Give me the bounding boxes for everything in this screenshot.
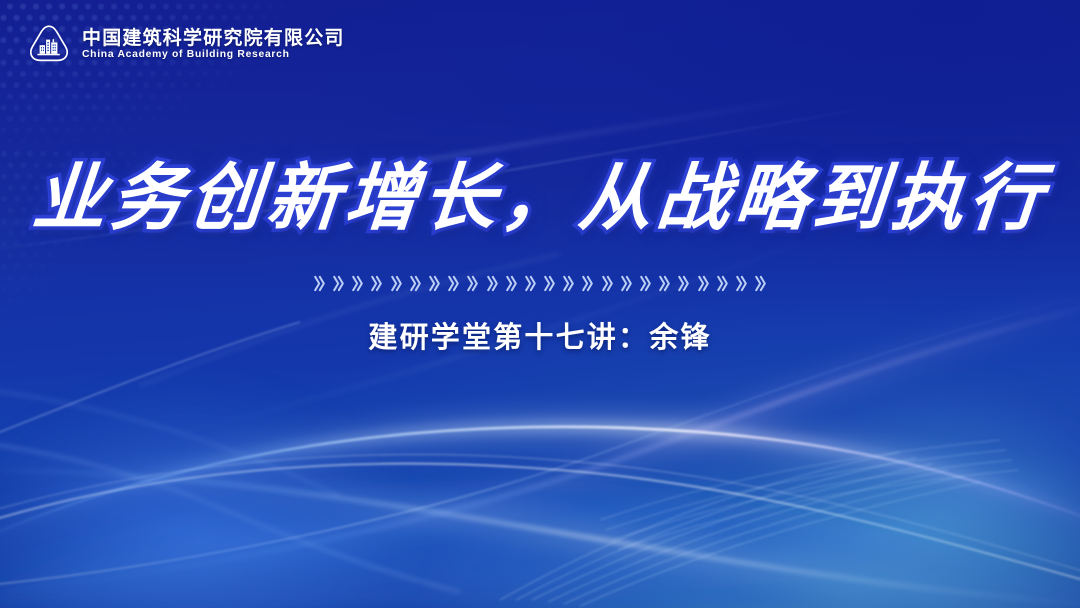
double-chevron-right-icon xyxy=(506,275,517,292)
double-chevron-right-icon xyxy=(487,275,498,292)
double-chevron-right-icon xyxy=(448,275,459,292)
brand-name-en: China Academy of Building Research xyxy=(82,49,341,61)
chevron-divider xyxy=(0,275,1080,292)
double-chevron-right-icon xyxy=(736,275,747,292)
background-glow-bottom-right xyxy=(660,328,1080,608)
main-title-text: 业务创新增长，从战略到执行 xyxy=(29,158,1050,240)
double-chevron-right-icon xyxy=(678,275,689,292)
double-chevron-right-icon xyxy=(352,275,363,292)
double-chevron-right-icon xyxy=(314,275,325,292)
background-glow-bottom-left xyxy=(0,328,500,608)
double-chevron-right-icon xyxy=(755,275,766,292)
brand-name-cn: 中国建筑科学研究院有限公司 xyxy=(82,28,345,49)
page-title: 业务创新增长，从战略到执行 xyxy=(0,158,1080,240)
double-chevron-right-icon xyxy=(429,275,440,292)
double-chevron-right-icon xyxy=(602,275,613,292)
double-chevron-right-icon xyxy=(467,275,478,292)
double-chevron-right-icon xyxy=(410,275,421,292)
double-chevron-right-icon xyxy=(621,275,632,292)
double-chevron-right-icon xyxy=(659,275,670,292)
double-chevron-right-icon xyxy=(717,275,728,292)
double-chevron-right-icon xyxy=(640,275,651,292)
cabr-logo-icon xyxy=(26,22,72,68)
double-chevron-right-icon xyxy=(582,275,593,292)
double-chevron-right-icon xyxy=(563,275,574,292)
double-chevron-right-icon xyxy=(525,275,536,292)
subtitle-text: 建研学堂第十七讲：余锋 xyxy=(0,314,1080,356)
double-chevron-right-icon xyxy=(371,275,382,292)
double-chevron-right-icon xyxy=(698,275,709,292)
double-chevron-right-icon xyxy=(391,275,402,292)
brand-logo-lockup: 中国建筑科学研究院有限公司 China Academy of Building … xyxy=(26,22,345,68)
double-chevron-right-icon xyxy=(544,275,555,292)
double-chevron-right-icon xyxy=(333,275,344,292)
title-slide: 中国建筑科学研究院有限公司 China Academy of Building … xyxy=(0,0,1080,608)
brand-wordmark: 中国建筑科学研究院有限公司 China Academy of Building … xyxy=(82,28,345,62)
